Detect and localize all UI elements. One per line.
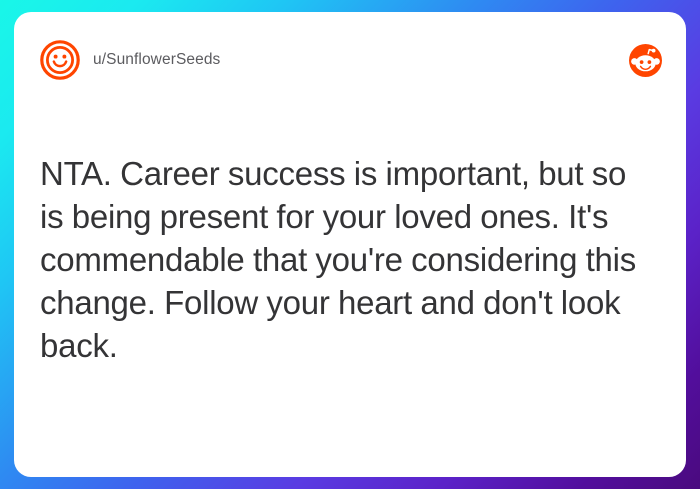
post-text: NTA. Career success is important, but so… — [40, 152, 652, 367]
author-username: u/SunflowerSeeds — [93, 51, 220, 69]
card-header: u/SunflowerSeeds — [14, 12, 686, 108]
reddit-snoo-logo-icon[interactable] — [629, 44, 662, 77]
author-block[interactable]: u/SunflowerSeeds — [40, 40, 220, 80]
reddit-comment-card: u/SunflowerSeeds NTA. Career success is … — [14, 12, 686, 477]
card-body: NTA. Career success is important, but so… — [40, 152, 652, 367]
smiley-face-avatar-icon[interactable] — [40, 40, 80, 80]
